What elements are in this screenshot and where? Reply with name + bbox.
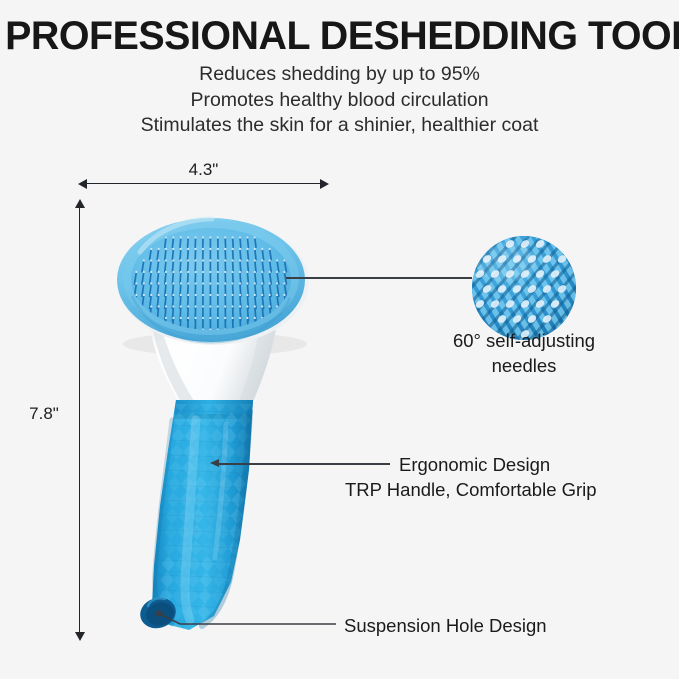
height-arrow-up-icon bbox=[75, 199, 85, 208]
suspension-leader-line bbox=[140, 600, 350, 640]
suspension-callout-label: Suspension Hole Design bbox=[344, 613, 604, 638]
width-dimension-line bbox=[80, 183, 327, 184]
needles-macro-image bbox=[472, 236, 576, 340]
brush-head bbox=[117, 218, 309, 345]
ergonomic-label-line-1: Ergonomic Design bbox=[345, 452, 635, 477]
height-dimension-line bbox=[79, 201, 80, 639]
width-dimension-label: 4.3" bbox=[80, 160, 327, 180]
product-infographic: PROFESSIONAL DESHEDDING TOOL Reduces she… bbox=[0, 0, 679, 679]
ergonomic-arrow-icon bbox=[210, 459, 219, 467]
ergonomic-callout-label: Ergonomic Design TRP Handle, Comfortable… bbox=[345, 452, 635, 502]
height-arrow-down-icon bbox=[75, 632, 85, 641]
width-arrow-right-icon bbox=[320, 179, 329, 189]
ergonomic-label-line-2: TRP Handle, Comfortable Grip bbox=[345, 477, 635, 502]
needles-label-line-2: needles bbox=[492, 355, 557, 376]
needles-label-line-1: 60° self-adjusting bbox=[453, 330, 595, 351]
needles-leader-line bbox=[286, 277, 472, 279]
width-arrow-left-icon bbox=[78, 179, 87, 189]
needles-callout-label: 60° self-adjusting needles bbox=[424, 328, 624, 378]
height-dimension-label: 7.8" bbox=[18, 404, 70, 424]
needles-macro-circle bbox=[472, 236, 576, 340]
